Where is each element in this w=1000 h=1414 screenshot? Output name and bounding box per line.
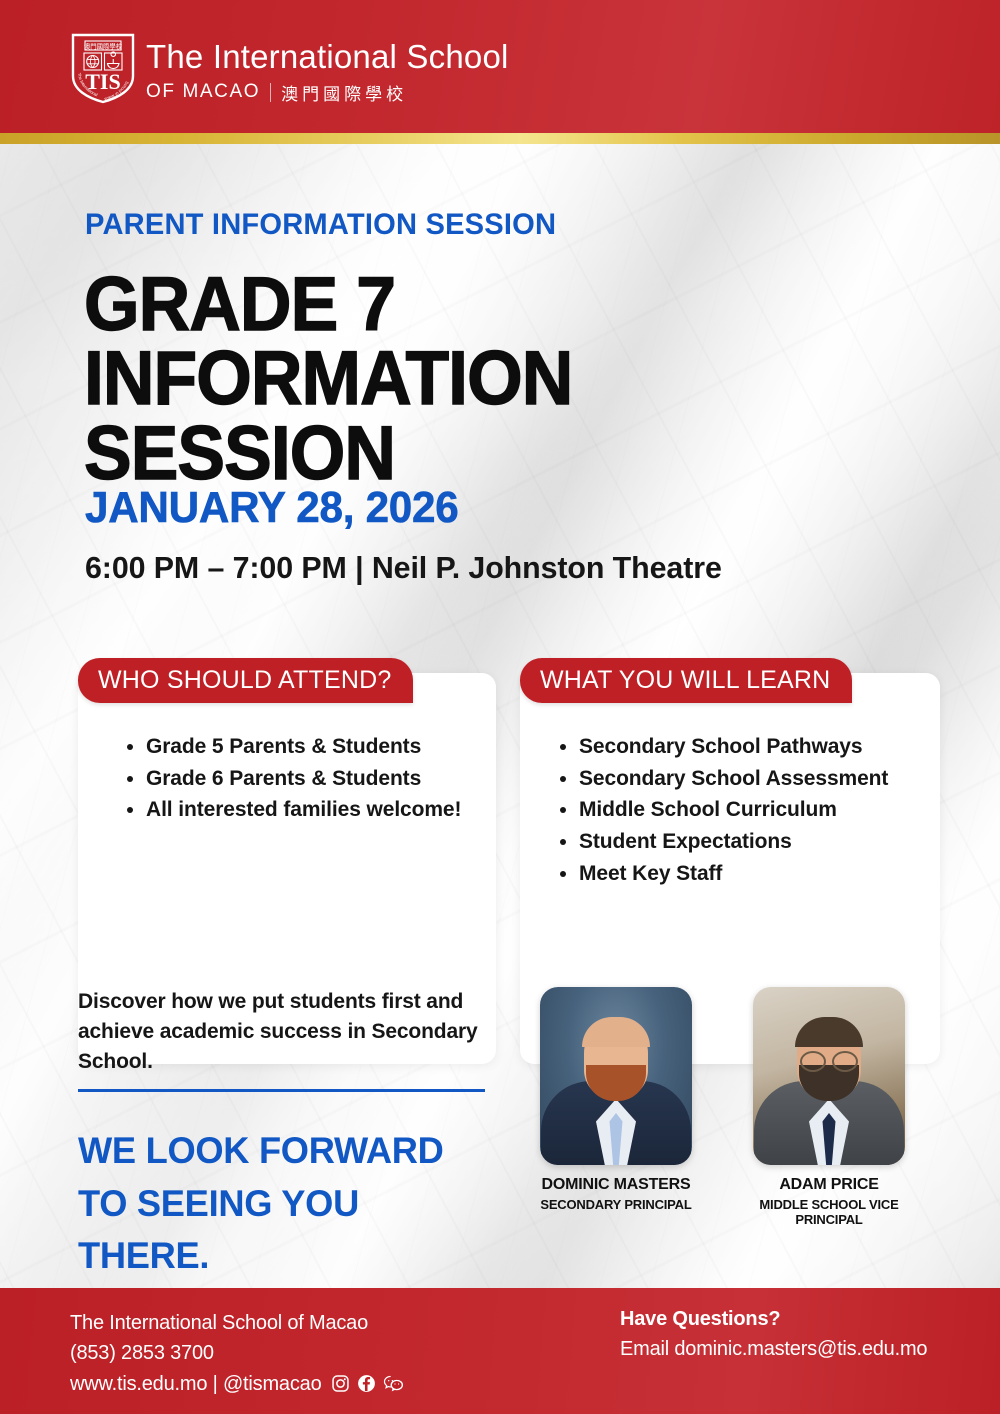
eyeglasses-icon <box>800 1051 858 1068</box>
staff-card-adam-price: ADAM PRICE MIDDLE SCHOOL VICE PRINCIPAL <box>734 987 924 1227</box>
headline-line-2: INFORMATION SESSION <box>84 342 892 491</box>
brand-lockup: The International School OF MACAO 澳門國際學校 <box>146 40 509 105</box>
who-should-attend-list: Grade 5 Parents & Students Grade 6 Paren… <box>112 734 516 829</box>
school-subname-row: OF MACAO 澳門國際學校 <box>146 80 509 105</box>
staff-card-dominic-masters: DOMINIC MASTERS SECONDARY PRINCIPAL <box>540 987 692 1227</box>
page-title: GRADE 7 INFORMATION SESSION <box>84 268 892 491</box>
footer-questions-block: Have Questions? Email dominic.masters@ti… <box>620 1304 927 1365</box>
footer-org: The International School of Macao <box>70 1308 404 1338</box>
staff-portraits: DOMINIC MASTERS SECONDARY PRINCIPAL ADAM… <box>540 987 950 1227</box>
wechat-icon[interactable] <box>383 1374 404 1393</box>
list-item: Secondary School Assessment <box>579 766 969 793</box>
footer-website-handle[interactable]: www.tis.edu.mo | @tismacao <box>70 1369 322 1399</box>
poster-footer: The International School of Macao (853) … <box>0 1288 1000 1414</box>
staff-role: MIDDLE SCHOOL VICE PRINCIPAL <box>734 1197 924 1227</box>
list-item: All interested families welcome! <box>146 797 516 824</box>
list-item: Grade 6 Parents & Students <box>146 766 516 793</box>
poster-canvas: 澳門國際學校 TIS The International School of M… <box>0 0 1000 1414</box>
footer-questions-title: Have Questions? <box>620 1304 927 1334</box>
footer-questions-email[interactable]: Email dominic.masters@tis.edu.mo <box>620 1334 927 1364</box>
who-should-attend-title: WHO SHOULD ATTEND? <box>78 658 413 703</box>
brand-divider <box>270 83 271 102</box>
list-item: Meet Key Staff <box>579 861 969 888</box>
gold-accent-bar <box>0 133 1000 144</box>
what-you-will-learn-title: WHAT YOU WILL LEARN <box>520 658 852 703</box>
footer-phone[interactable]: (853) 2853 3700 <box>70 1338 404 1368</box>
portrait-dominic-masters <box>540 987 692 1165</box>
tagline-text: Discover how we put students first and a… <box>78 987 488 1076</box>
staff-name: ADAM PRICE <box>734 1176 924 1194</box>
staff-name: DOMINIC MASTERS <box>540 1176 692 1194</box>
list-item: Student Expectations <box>579 829 969 856</box>
social-icons <box>331 1374 404 1393</box>
blue-divider-rule <box>78 1089 485 1092</box>
event-date: JANUARY 28, 2026 <box>85 483 458 533</box>
event-time-venue: 6:00 PM – 7:00 PM | Neil P. Johnston The… <box>85 550 722 586</box>
school-sub-en: OF MACAO <box>146 81 260 103</box>
school-name: The International School <box>146 40 509 75</box>
list-item: Grade 5 Parents & Students <box>146 734 516 761</box>
footer-web-row: www.tis.edu.mo | @tismacao <box>70 1369 404 1399</box>
svg-text:澳門國際學校: 澳門國際學校 <box>84 42 123 51</box>
poster-header: 澳門國際學校 TIS The International School of M… <box>0 0 1000 133</box>
list-item: Secondary School Pathways <box>579 734 969 761</box>
tis-shield-crest-icon: 澳門國際學校 TIS The International School of M… <box>70 32 136 104</box>
list-item: Middle School Curriculum <box>579 797 969 824</box>
facebook-icon[interactable] <box>357 1374 376 1393</box>
headline-line-1: GRADE 7 <box>84 262 395 347</box>
school-sub-cn: 澳門國際學校 <box>281 80 407 105</box>
call-to-action-text: WE LOOK FORWARD TO SEEING YOU THERE. <box>78 1125 499 1283</box>
instagram-icon[interactable] <box>331 1374 350 1393</box>
footer-contact-block: The International School of Macao (853) … <box>70 1308 404 1399</box>
portrait-adam-price <box>753 987 905 1165</box>
staff-role: SECONDARY PRINCIPAL <box>540 1197 692 1212</box>
eyebrow-label: PARENT INFORMATION SESSION <box>85 208 556 242</box>
what-you-will-learn-list: Secondary School Pathways Secondary Scho… <box>545 734 969 892</box>
